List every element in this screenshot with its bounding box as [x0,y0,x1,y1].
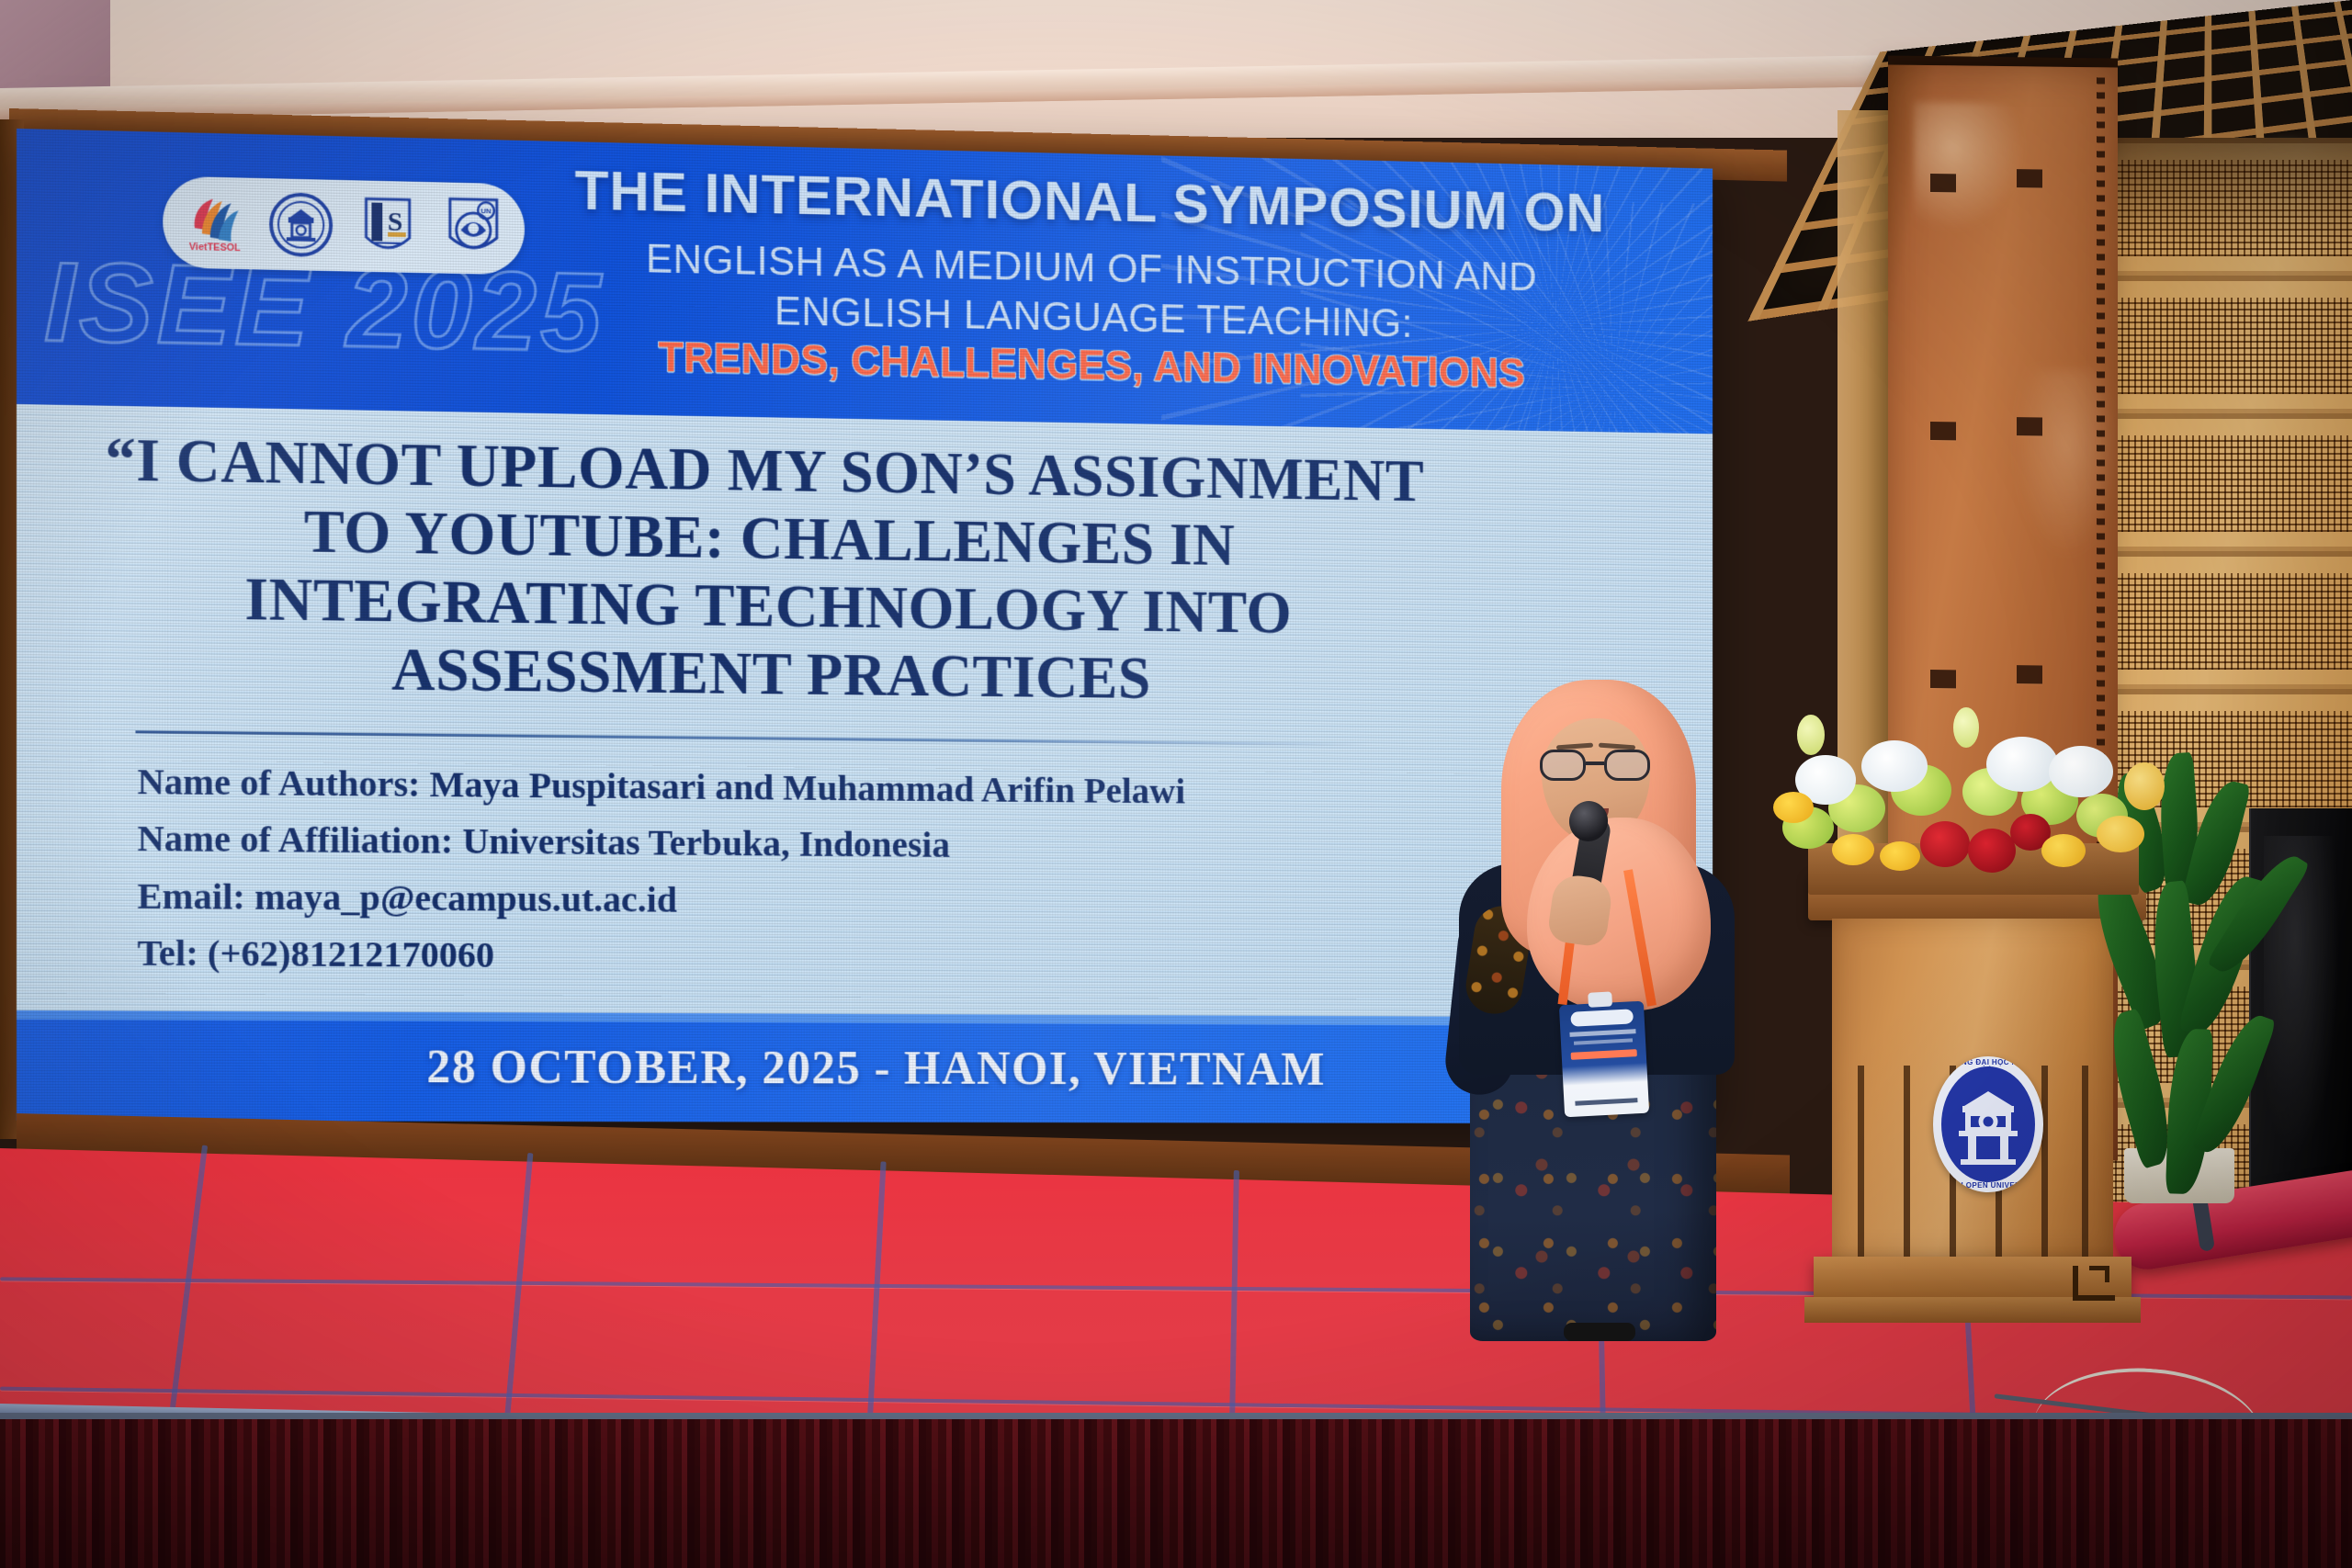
author-metadata-block: Name of Authors: Maya Puspitasari and Mu… [137,752,1449,987]
presentation-title: “I CANNOT UPLOAD MY SON’S ASSIGNMENT TO … [81,425,1448,716]
greek-key-fret-detail [2073,1266,2115,1301]
conference-name-badge [1559,1001,1649,1118]
eyeglasses [1540,750,1654,781]
presenter [1453,680,1747,1341]
badge-clip [1588,991,1612,1007]
hanoi-open-university-logo [266,189,335,260]
badge-logo-row [1570,1009,1634,1027]
telephone-line: Tel: (+62)81212170060 [137,924,1449,987]
wall-shadow [2076,138,2352,248]
event-date-location: 28 OCTOBER, 2025 - HANOI, VIETNAM [426,1040,1325,1097]
shoe [1564,1323,1635,1341]
flower-arrangement [1773,696,2168,871]
conference-stage-scene: ISEE 2025 VietTESOL [0,0,2352,1568]
svg-text:UN: UN [481,207,492,215]
svg-text:VietTESOL: VietTESOL [189,242,241,254]
podium-front-panel: TRƯỜNG ĐẠI HỌC MỞ HÀ NỘI HANOI OPEN UNIV… [1832,919,2113,1258]
affiliation-line: Name of Affiliation: Universitas Terbuka… [137,809,1449,876]
emblem-text-vietnamese: TRƯỜNG ĐẠI HỌC MỞ HÀ NỘI [1933,1058,2043,1075]
badge-name-line [1575,1098,1637,1106]
badge-accent-bar [1571,1049,1637,1060]
pavilion-gate-icon [1951,1086,2025,1169]
podium-plinth [1804,1297,2141,1323]
speaking-podium: TRƯỜNG ĐẠI HỌC MỞ HÀ NỘI HANOI OPEN UNIV… [1817,873,2137,1332]
stage-skirt-shading [0,1413,2352,1568]
badge-text-line-2 [1574,1038,1633,1044]
uneti-logo: UN [439,193,507,264]
podium-emblem: TRƯỜNG ĐẠI HỌC MỞ HÀ NỘI HANOI OPEN UNIV… [1933,1056,2043,1192]
viettesol-association-logo: VietTESOL [180,187,249,258]
column-highlight [1914,102,2024,231]
badge-text-line-1 [1569,1029,1635,1037]
iis-logo: S [353,191,422,262]
slide-header: ISEE 2025 VietTESOL [17,129,1713,434]
email-line: Email: maya_p@ecampus.ut.ac.id [137,867,1449,932]
sponsor-logo-strip: VietTESOL [163,176,525,276]
emblem-text-english: HANOI OPEN UNIVERSITY [1933,1181,2043,1190]
